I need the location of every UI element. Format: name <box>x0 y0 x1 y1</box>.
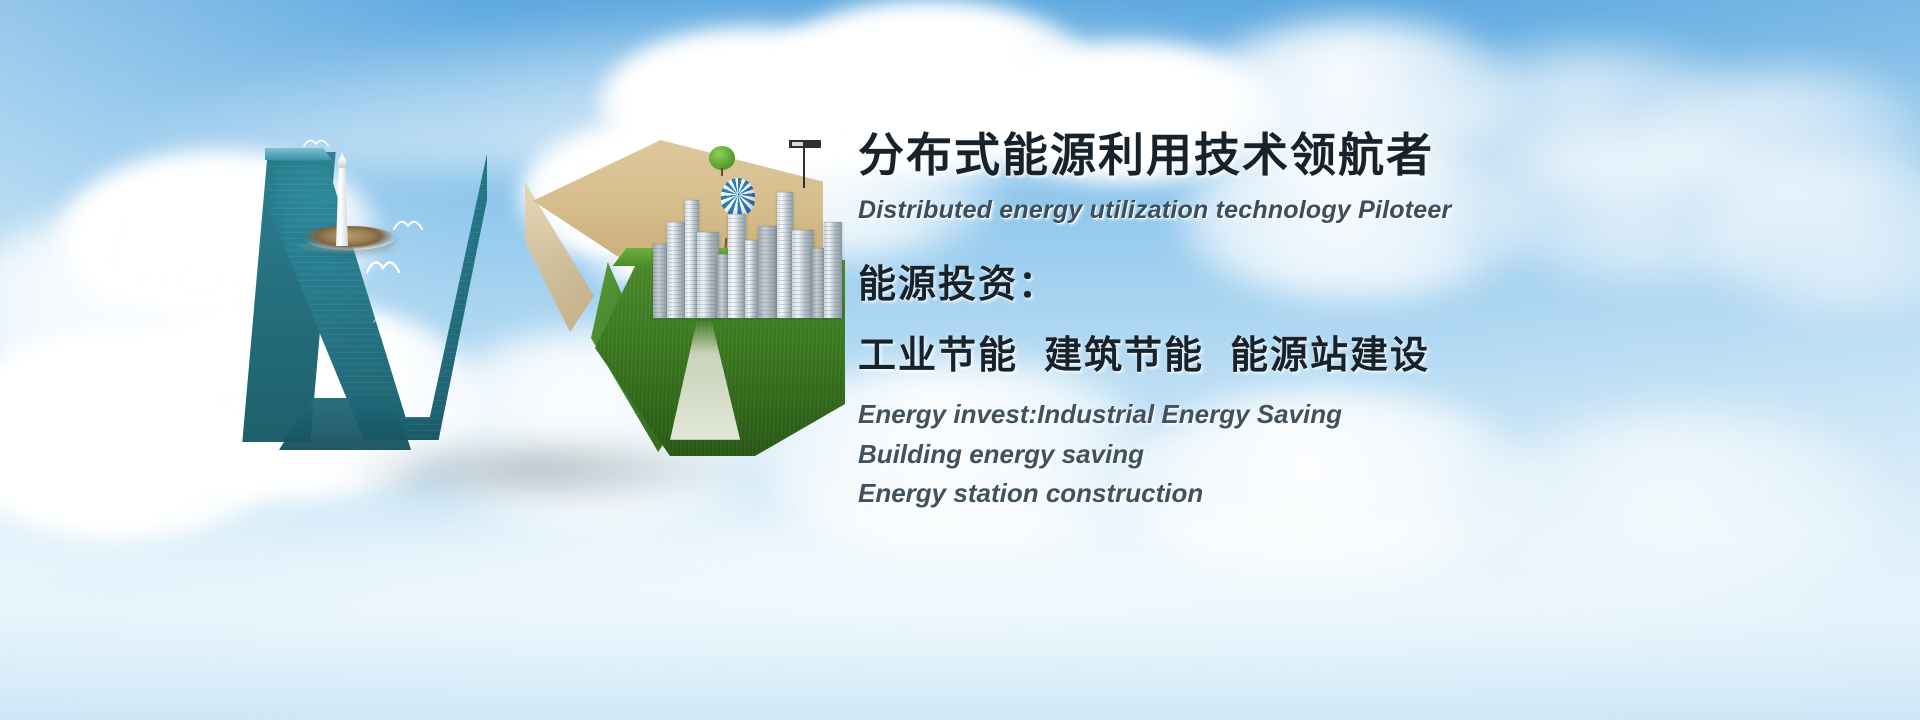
services-english: Energy invest:Industrial Energy Saving B… <box>858 395 1818 514</box>
banner-copy: 分布式能源利用技术领航者 Distributed energy utilizat… <box>858 128 1818 514</box>
ocean-top-edge <box>265 148 489 160</box>
service-en-line-3: Energy station construction <box>858 474 1818 514</box>
service-en-line-2: Building energy saving <box>858 435 1818 475</box>
building <box>824 222 842 318</box>
lighthouse-tower <box>336 168 348 246</box>
section-label-chinese: 能源投资： <box>858 253 1818 308</box>
city-skyline <box>653 178 843 318</box>
seagull-icon <box>303 138 329 149</box>
ocean-stroke <box>245 130 545 460</box>
building <box>667 222 687 318</box>
building <box>728 214 746 318</box>
seagull-icon <box>373 315 393 324</box>
service-item-building: 建筑节能 <box>1044 335 1204 377</box>
headline-english: Distributed energy utilization technolog… <box>858 196 1818 225</box>
headline-chinese: 分布式能源利用技术领航者 <box>858 128 1818 182</box>
seagull-icon <box>365 258 401 275</box>
service-item-station: 能源站建设 <box>1230 335 1430 377</box>
lighthouse-icon <box>331 152 353 248</box>
service-item-industrial: 工业节能 <box>858 335 1018 377</box>
hero-banner: 分布式能源利用技术领航者 Distributed energy utilizat… <box>0 0 1920 720</box>
building <box>697 232 719 318</box>
letter-w-artwork <box>245 130 845 490</box>
services-chinese: 工业节能建筑节能能源站建设 <box>858 324 1818 379</box>
land-stroke <box>503 130 848 470</box>
service-en-line-1: Energy invest:Industrial Energy Saving <box>858 395 1818 435</box>
building <box>792 230 814 318</box>
signpost-arm <box>789 140 821 148</box>
building <box>777 192 793 318</box>
seagull-icon <box>393 218 423 232</box>
tree-icon <box>709 146 735 170</box>
building <box>758 226 778 318</box>
